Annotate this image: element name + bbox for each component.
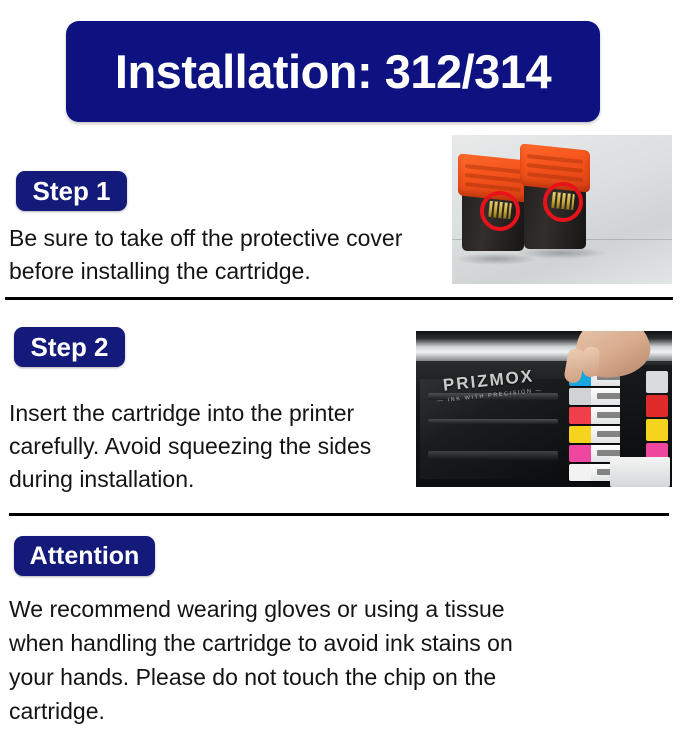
section-divider-1 [5,297,673,300]
step-2-text: Insert the cartridge into the printer ca… [9,397,419,496]
printer-label [610,457,670,487]
step-1-badge: Step 1 [16,171,127,211]
page-title: Installation: 312/314 [115,48,551,95]
step-1-photo-cartridges [452,135,672,284]
chip-highlight-ring [543,182,583,222]
attention-text: We recommend wearing gloves or using a t… [9,592,549,728]
step-2-photo-printer: PRIZMOX — INK WITH PRECISION — [416,331,672,487]
title-banner: Installation: 312/314 [66,21,600,122]
instruction-card: Installation: 312/314 Step 1 Be sure to … [0,0,684,732]
step-1-text: Be sure to take off the protective cover… [9,222,449,288]
attention-badge: Attention [14,536,155,576]
printer-mechanism [420,379,568,479]
chip-highlight-ring [480,191,520,231]
finger [582,346,600,377]
section-divider-2 [9,513,669,516]
step-2-badge: Step 2 [14,327,125,367]
